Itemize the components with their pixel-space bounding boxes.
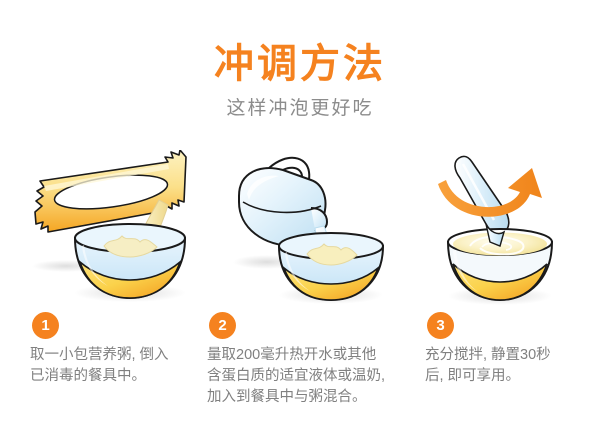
step-number-badge-1: 1 xyxy=(32,312,59,339)
step-item-1: 1 取一小包营养粥, 倒入 已消毒的餐具中。 xyxy=(30,312,206,387)
illustration-step-2 xyxy=(225,150,410,310)
illustration-band xyxy=(0,150,600,310)
step-number-badge-2: 2 xyxy=(209,312,236,339)
spoon xyxy=(455,156,509,233)
step-item-2: 2 量取200毫升热开水或其他 含蛋白质的适宜液体或温奶, 加入到餐具中与粥混合… xyxy=(207,312,419,408)
step-description-2: 量取200毫升热开水或其他 含蛋白质的适宜液体或温奶, 加入到餐具中与粥混合。 xyxy=(207,345,419,408)
illustration-step-3 xyxy=(420,150,585,310)
page-title: 冲调方法 xyxy=(0,40,600,88)
bowl-with-porridge xyxy=(448,224,552,300)
illustration-step-1 xyxy=(18,150,213,310)
step-item-3: 3 充分搅拌, 静置30秒 后, 即可享用。 xyxy=(425,312,590,387)
step-number-badge-3: 3 xyxy=(427,312,454,339)
step-description-1: 取一小包营养粥, 倒入 已消毒的餐具中。 xyxy=(30,345,206,387)
steps-list: 1 取一小包营养粥, 倒入 已消毒的餐具中。 2 量取200毫升热开水或其他 含… xyxy=(0,312,600,430)
page-subtitle: 这样冲泡更好吃 xyxy=(0,96,600,122)
page-header: 冲调方法 这样冲泡更好吃 xyxy=(0,40,600,122)
step-description-3: 充分搅拌, 静置30秒 后, 即可享用。 xyxy=(425,345,590,387)
preparation-instructions-page: 冲调方法 这样冲泡更好吃 xyxy=(0,0,600,432)
